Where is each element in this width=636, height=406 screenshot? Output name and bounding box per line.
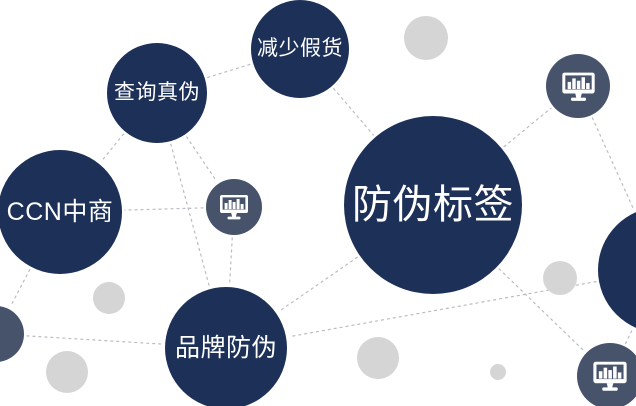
monitor-chart-icon	[218, 191, 250, 223]
connection-line	[125, 208, 203, 210]
node-monitor-center[interactable]	[206, 179, 262, 235]
node-label: 查询真伪	[114, 81, 200, 105]
node-chaxun-zhenwei[interactable]: 查询真伪	[107, 43, 207, 143]
node-right-edge-blank[interactable]	[598, 207, 636, 333]
connection-line	[171, 144, 209, 286]
network-diagram-canvas: 防伪标签CCN中商品牌防伪查询真伪减少假货	[0, 0, 636, 406]
connection-line	[626, 329, 633, 343]
connection-line	[334, 89, 374, 135]
monitor-chart-icon	[560, 68, 597, 105]
node-ccn-zhongshang[interactable]: CCN中商	[0, 150, 122, 274]
connection-line	[592, 118, 633, 210]
node-label: CCN中商	[7, 198, 114, 227]
connection-line	[208, 64, 251, 77]
decorative-circle	[404, 16, 448, 60]
decorative-circle	[357, 337, 399, 379]
node-label: 减少假货	[257, 37, 343, 61]
node-pinpai-fangwei[interactable]: 品牌防伪	[165, 287, 287, 406]
node-label: 防伪标签	[352, 182, 514, 228]
node-fangwei-biaoqian[interactable]: 防伪标签	[344, 116, 522, 294]
connection-line	[10, 270, 29, 307]
decorative-circle	[46, 351, 88, 393]
decorative-circle	[93, 282, 125, 314]
connection-line	[187, 137, 217, 181]
connection-line	[504, 108, 551, 146]
connection-line	[230, 238, 233, 284]
connection-line	[27, 336, 162, 344]
connection-line	[279, 257, 358, 311]
monitor-chart-icon	[591, 357, 629, 395]
node-label: 品牌防伪	[175, 334, 277, 363]
decorative-circle	[490, 364, 506, 380]
node-jianshao-jiahuo[interactable]: 减少假货	[251, 0, 349, 98]
connection-line	[101, 134, 123, 162]
node-slate-left-edge[interactable]	[0, 306, 24, 362]
decorative-circle	[543, 261, 577, 295]
node-monitor-bottom-right[interactable]	[577, 343, 636, 406]
node-monitor-top-right[interactable]	[546, 54, 610, 118]
